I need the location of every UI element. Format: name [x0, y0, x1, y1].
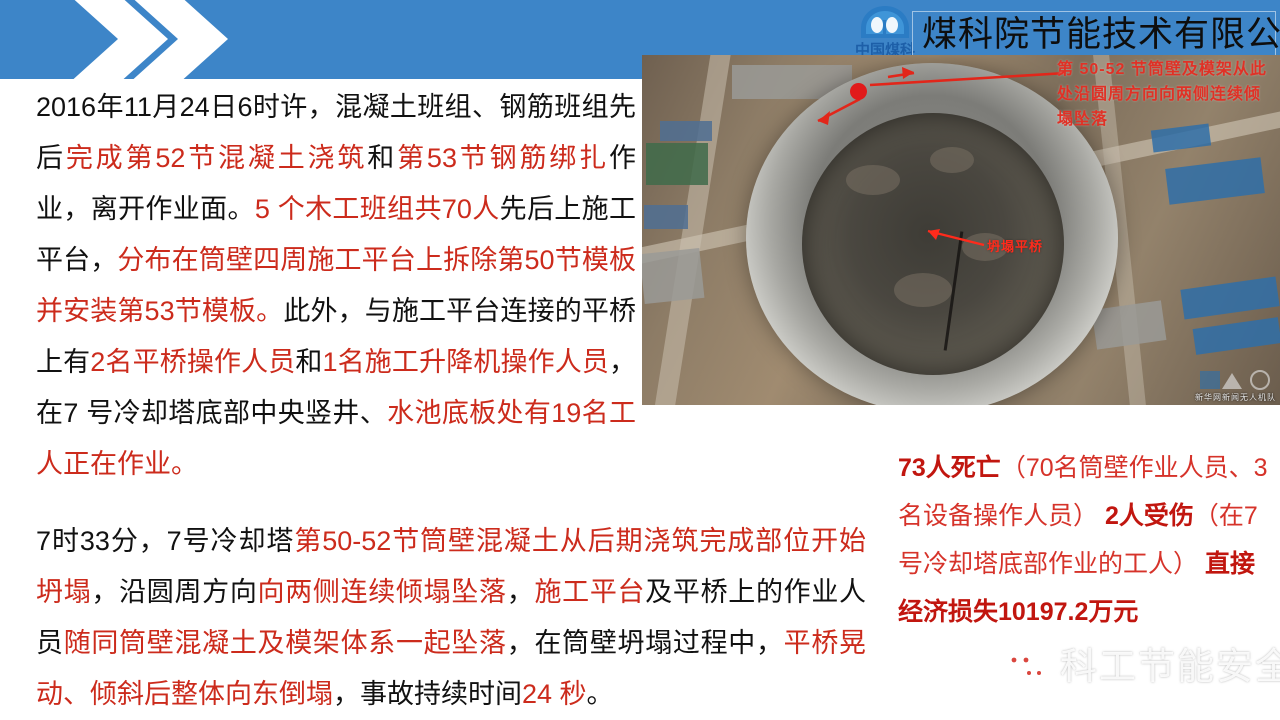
text-run: ，事故持续时间 [333, 679, 522, 709]
brand-logo: 中国煤科 [848, 4, 922, 60]
text-run: 和 [367, 143, 397, 173]
photo-annotation-center: 坍塌平桥 [987, 236, 1043, 255]
photo-building [642, 248, 704, 304]
photo-source-logos-icon [1200, 369, 1274, 391]
photo-annotation-main: 第 50-52 节筒壁及模架从此处沿圆周方向向两侧连续倾塌坠落 [1057, 57, 1275, 132]
photo-debris [930, 147, 974, 173]
text-run: 7时33分，7号冷却塔 [36, 526, 294, 556]
text-run: ，沿圆周方向 [91, 577, 257, 607]
text-run-highlight: 2名平桥操作人员 [90, 347, 295, 377]
text-run-highlight: 第53节钢筋绑扎 [397, 143, 609, 173]
wechat-watermark: 科工节能安全 [996, 638, 1280, 700]
body-paragraph-3: 7时33分，7号冷却塔第50-52节筒壁混凝土从后期浇筑完成部位开始坍塌，沿圆周… [36, 516, 866, 720]
text-run: 和 [295, 347, 322, 377]
photo-building [644, 205, 688, 229]
injuries-count: 2人受伤 [1105, 502, 1194, 530]
photo-debris [894, 273, 952, 307]
text-run-highlight: 24 秒 [522, 679, 587, 709]
text-run: 。 [587, 679, 614, 709]
aerial-photo-cooling-tower-collapse: 第 50-52 节筒壁及模架从此处沿圆周方向向两侧连续倾塌坠落 坍塌平桥 新华网… [642, 55, 1280, 405]
text-run-highlight: 1名施工升降机操作人员 [323, 347, 610, 377]
text-run: ，在筒壁坍塌过程中， [507, 628, 784, 658]
red-dot-marker-icon [850, 83, 867, 100]
slide-root: 中国煤科 煤科院节能技术有限公司 [0, 0, 1280, 720]
coal-group-emblem-icon [857, 4, 913, 44]
text-run-highlight: 施工平台 [534, 577, 645, 607]
text-run-highlight: 向两侧连续倾塌坠落 [258, 577, 507, 607]
company-name: 煤科院节能技术有限公司 [922, 14, 1280, 56]
text-run-highlight: 5 个木工班组共70人 [255, 194, 500, 224]
double-chevron-right-icon [40, 0, 230, 84]
photo-building [660, 121, 712, 141]
text-run-highlight: 随同筒壁混凝土及模架体系一起坠落 [64, 628, 507, 658]
photo-debris [846, 165, 900, 195]
casualty-summary: 73人死亡（70名筒壁作业人员、3名设备操作人员） 2人受伤（在7号冷却塔底部作… [898, 444, 1274, 636]
photo-building [646, 143, 708, 185]
body-paragraph-1: 2016年11月24日6时许，混凝土班组、钢筋班组先后完成第52节混凝土浇筑和第… [36, 82, 636, 490]
fatalities-count: 73人死亡 [898, 454, 1001, 482]
text-run: ， [507, 577, 535, 607]
wechat-logo-icon [998, 642, 1050, 694]
photo-source-caption: 新华网新闻无人机队 [1195, 392, 1276, 403]
watermark-text: 科工节能安全 [1060, 644, 1280, 690]
text-run-highlight: 完成第52节混凝土浇筑 [66, 143, 367, 173]
